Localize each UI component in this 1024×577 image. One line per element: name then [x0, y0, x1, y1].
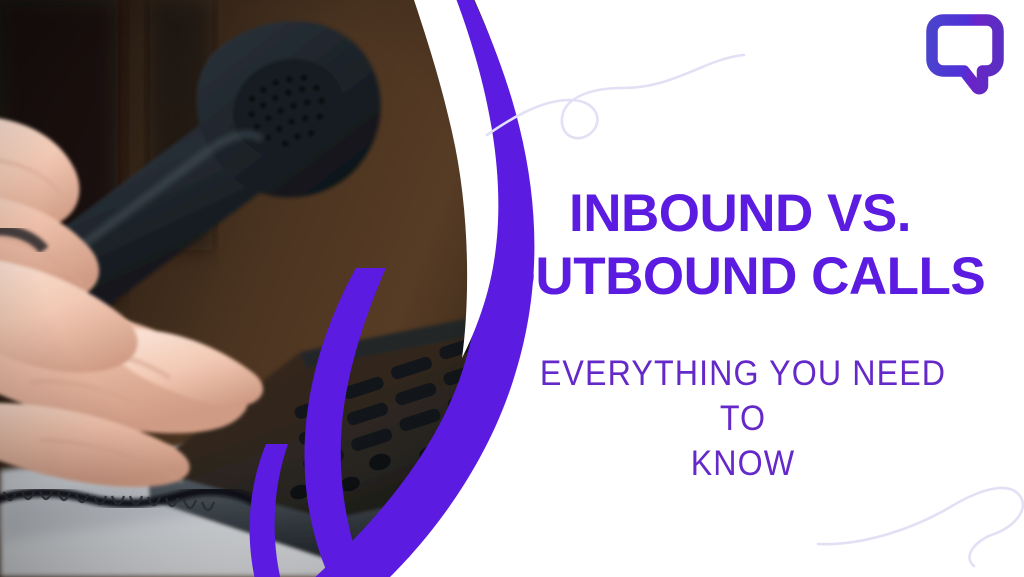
page-subtitle: EVERYTHING YOU NEED TO KNOW [512, 352, 974, 486]
brand-logo[interactable] [926, 14, 1004, 96]
speech-bubble-icon [926, 14, 1004, 96]
blog-banner: INBOUND VS. OUTBOUND CALLS EVERYTHING YO… [0, 0, 1024, 577]
page-title: INBOUND VS. OUTBOUND CALLS [470, 182, 1010, 308]
